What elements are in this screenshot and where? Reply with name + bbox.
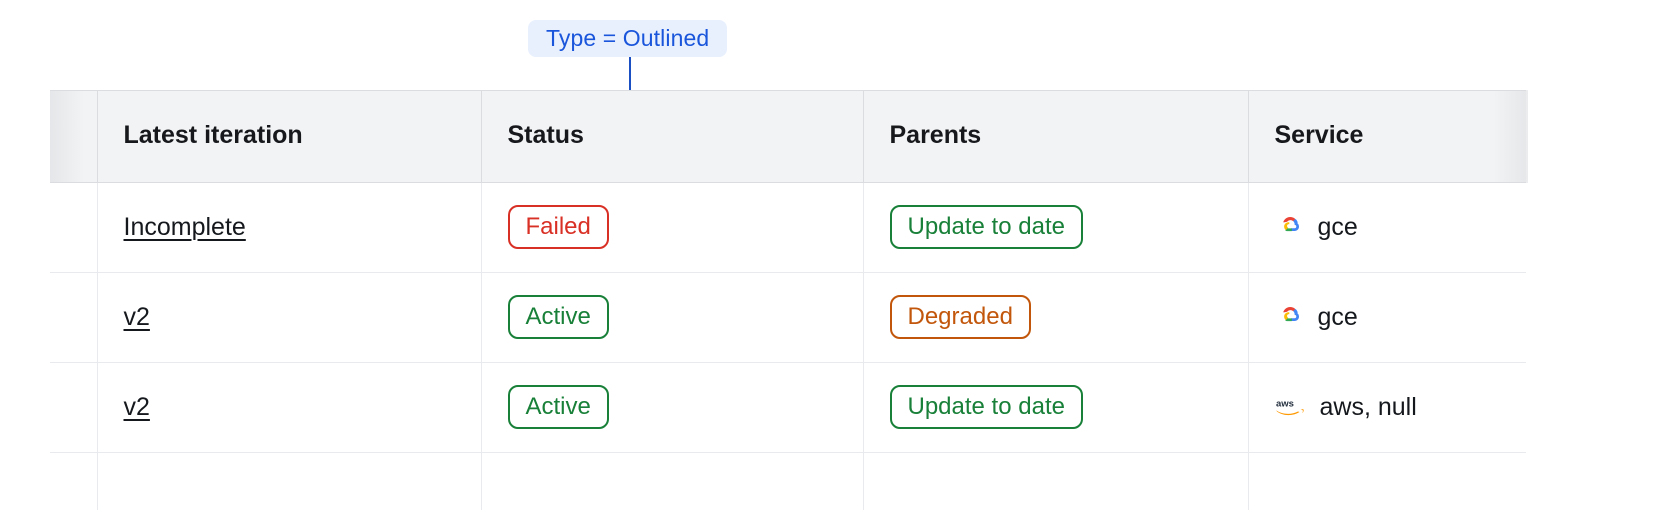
cell-parents: Update to date bbox=[863, 362, 1248, 452]
cell-service: gce bbox=[1248, 182, 1526, 272]
column-header-parents[interactable]: Parents bbox=[863, 90, 1248, 182]
column-header-service[interactable]: Service bbox=[1248, 90, 1526, 182]
status-badge: Failed bbox=[508, 205, 609, 249]
cell-status: Failed bbox=[481, 182, 863, 272]
table-row[interactable]: v2 Active Update to date aws bbox=[50, 362, 1526, 452]
cell-service bbox=[1248, 452, 1526, 510]
cell-latest-iteration[interactable]: Incomplete bbox=[97, 182, 481, 272]
screenshot-root: Type = Outlined Latest iteration Status … bbox=[0, 0, 1672, 510]
table-row[interactable]: Incomplete Failed Update to date bbox=[50, 182, 1526, 272]
service-value: gce bbox=[1275, 212, 1527, 242]
table-top-divider bbox=[50, 90, 1526, 91]
parents-badge: Degraded bbox=[890, 295, 1031, 339]
cell-service: aws aws, null bbox=[1248, 362, 1526, 452]
table-header: Latest iteration Status Parents Service bbox=[50, 90, 1526, 182]
status-badge: Active bbox=[508, 295, 609, 339]
cell-status bbox=[481, 452, 863, 510]
service-value: aws aws, null bbox=[1275, 393, 1527, 422]
google-cloud-icon bbox=[1275, 302, 1305, 332]
row-spacer-cell bbox=[50, 452, 97, 510]
parents-badge: Update to date bbox=[890, 385, 1083, 429]
row-spacer-cell bbox=[50, 272, 97, 362]
service-label: aws, null bbox=[1320, 393, 1417, 422]
annotation-badge: Type = Outlined bbox=[528, 20, 727, 57]
iteration-link[interactable]: Incomplete bbox=[124, 213, 246, 241]
row-spacer-cell bbox=[50, 182, 97, 272]
cell-service: gce bbox=[1248, 272, 1526, 362]
aws-icon: aws bbox=[1275, 394, 1307, 420]
service-label: gce bbox=[1318, 213, 1358, 242]
cell-parents: Update to date bbox=[863, 182, 1248, 272]
parents-badge: Update to date bbox=[890, 205, 1083, 249]
service-label: gce bbox=[1318, 303, 1358, 332]
service-value: gce bbox=[1275, 302, 1527, 332]
table-body: Incomplete Failed Update to date bbox=[50, 182, 1526, 510]
column-header-latest-iteration[interactable]: Latest iteration bbox=[97, 90, 481, 182]
table-row[interactable] bbox=[50, 452, 1526, 510]
cell-parents bbox=[863, 452, 1248, 510]
data-table-container: Latest iteration Status Parents Service … bbox=[50, 90, 1526, 510]
cell-latest-iteration[interactable] bbox=[97, 452, 481, 510]
data-table: Latest iteration Status Parents Service … bbox=[50, 90, 1526, 510]
status-badge: Active bbox=[508, 385, 609, 429]
cell-latest-iteration[interactable]: v2 bbox=[97, 272, 481, 362]
table-row[interactable]: v2 Active Degraded bbox=[50, 272, 1526, 362]
column-header-spacer bbox=[50, 90, 97, 182]
cell-latest-iteration[interactable]: v2 bbox=[97, 362, 481, 452]
cell-status: Active bbox=[481, 362, 863, 452]
cell-parents: Degraded bbox=[863, 272, 1248, 362]
svg-text:aws: aws bbox=[1276, 399, 1294, 410]
iteration-link[interactable]: v2 bbox=[124, 393, 150, 421]
row-spacer-cell bbox=[50, 362, 97, 452]
iteration-link[interactable]: v2 bbox=[124, 303, 150, 331]
cell-status: Active bbox=[481, 272, 863, 362]
google-cloud-icon bbox=[1275, 212, 1305, 242]
column-header-status[interactable]: Status bbox=[481, 90, 863, 182]
annotation-label: Type = Outlined bbox=[546, 25, 709, 52]
table-header-row: Latest iteration Status Parents Service bbox=[50, 90, 1526, 182]
